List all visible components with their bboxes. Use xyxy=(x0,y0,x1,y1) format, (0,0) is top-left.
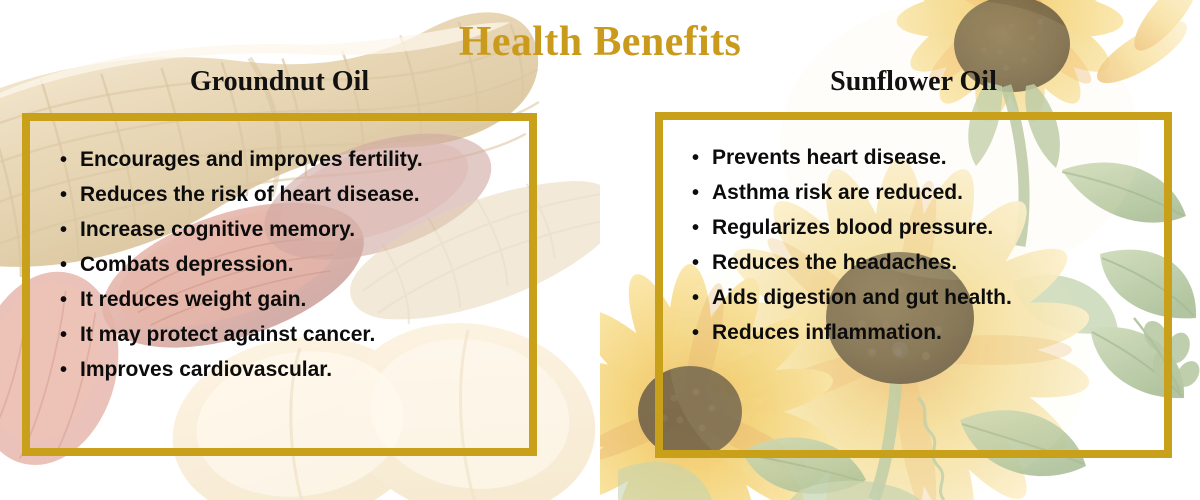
benefit-list-item: •Reduces inflammation. xyxy=(692,321,1012,356)
benefit-text: Reduces inflammation. xyxy=(712,321,942,345)
benefit-text: Reduces the risk of heart disease. xyxy=(80,183,420,207)
bullet-point-icon: • xyxy=(692,323,712,343)
bullet-point-icon: • xyxy=(60,325,80,345)
benefit-text: Increase cognitive memory. xyxy=(80,218,355,242)
benefits-list-sunflower-oil: •Prevents heart disease.•Asthma risk are… xyxy=(692,146,1012,356)
benefit-list-item: •Aids digestion and gut health. xyxy=(692,286,1012,321)
benefit-list-item: •It reduces weight gain. xyxy=(60,288,423,323)
benefit-text: Prevents heart disease. xyxy=(712,146,947,170)
benefit-text: It reduces weight gain. xyxy=(80,288,306,312)
benefit-text: Reduces the headaches. xyxy=(712,251,957,275)
bullet-point-icon: • xyxy=(60,220,80,240)
benefit-text: Improves cardiovascular. xyxy=(80,358,332,382)
bullet-point-icon: • xyxy=(692,253,712,273)
bullet-point-icon: • xyxy=(692,288,712,308)
column-heading-sunflower-oil: Sunflower Oil xyxy=(655,66,1172,98)
bullet-point-icon: • xyxy=(692,148,712,168)
benefit-text: Aids digestion and gut health. xyxy=(712,286,1012,310)
benefit-list-item: •Increase cognitive memory. xyxy=(60,218,423,253)
infographic-canvas: Health Benefits Groundnut Oil Sunflower … xyxy=(0,0,1200,500)
bullet-point-icon: • xyxy=(60,255,80,275)
page-title: Health Benefits xyxy=(0,18,1200,66)
benefit-list-item: •Regularizes blood pressure. xyxy=(692,216,1012,251)
benefit-text: Combats depression. xyxy=(80,253,294,277)
bullet-point-icon: • xyxy=(692,183,712,203)
column-heading-groundnut-oil: Groundnut Oil xyxy=(22,66,537,98)
benefit-list-item: •Prevents heart disease. xyxy=(692,146,1012,181)
benefit-text: Encourages and improves fertility. xyxy=(80,148,423,172)
benefit-list-item: •Asthma risk are reduced. xyxy=(692,181,1012,216)
bullet-point-icon: • xyxy=(60,290,80,310)
benefit-list-item: •Reduces the headaches. xyxy=(692,251,1012,286)
bullet-point-icon: • xyxy=(60,185,80,205)
bullet-point-icon: • xyxy=(692,218,712,238)
benefit-list-item: •Improves cardiovascular. xyxy=(60,358,423,393)
benefit-list-item: •Combats depression. xyxy=(60,253,423,288)
bullet-point-icon: • xyxy=(60,360,80,380)
benefit-text: Regularizes blood pressure. xyxy=(712,216,993,240)
benefit-list-item: •Encourages and improves fertility. xyxy=(60,148,423,183)
benefit-text: It may protect against cancer. xyxy=(80,323,375,347)
benefits-list-groundnut-oil: •Encourages and improves fertility.•Redu… xyxy=(60,148,423,393)
benefit-text: Asthma risk are reduced. xyxy=(712,181,963,205)
benefit-list-item: •Reduces the risk of heart disease. xyxy=(60,183,423,218)
bullet-point-icon: • xyxy=(60,150,80,170)
benefit-list-item: •It may protect against cancer. xyxy=(60,323,423,358)
